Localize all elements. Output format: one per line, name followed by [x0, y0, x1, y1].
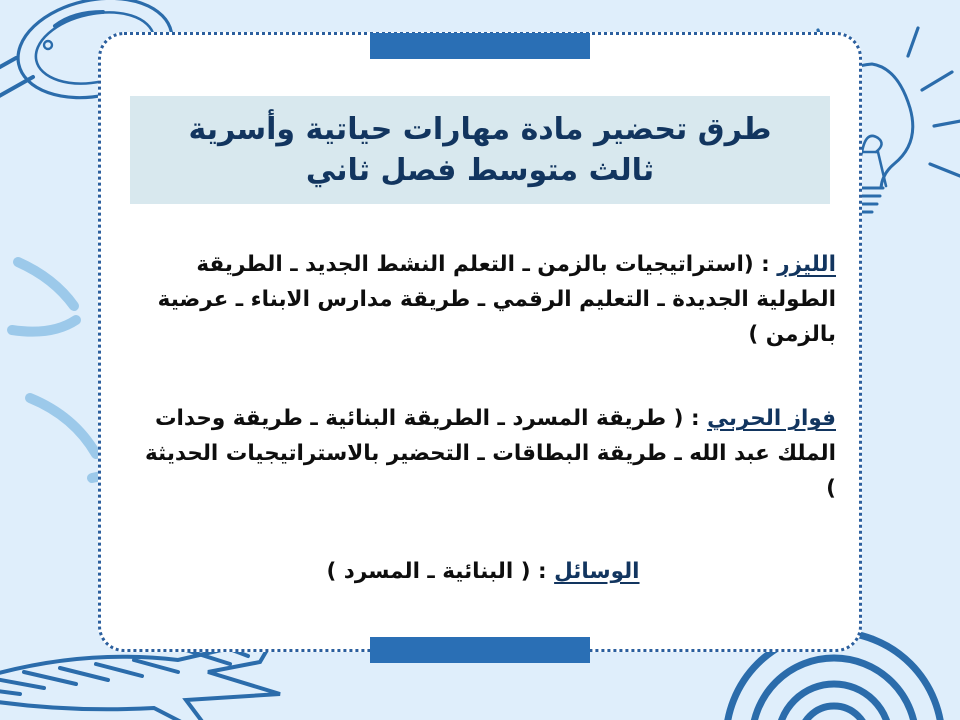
- title-line-2: ثالث متوسط فصل ثاني: [306, 150, 654, 191]
- title-band: طرق تحضير مادة مهارات حياتية وأسرية ثالث…: [130, 96, 830, 204]
- blue-tab-top: [370, 33, 590, 59]
- content-item-2: الوسائل : ( البنائية ـ المسرد ): [130, 555, 836, 590]
- content-item-0: الليزر : (استراتيجيات بالزمن ـ التعلم ال…: [130, 248, 836, 352]
- blue-tab-bottom: [370, 637, 590, 663]
- content-item-0-value: (استراتيجيات بالزمن ـ التعلم النشط الجدي…: [158, 252, 836, 347]
- content-body: الليزر : (استراتيجيات بالزمن ـ التعلم ال…: [130, 248, 836, 608]
- content-item-1-colon: :: [683, 406, 707, 431]
- content-item-1-label: فواز الحربي: [707, 406, 836, 431]
- content-item-0-colon: :: [754, 252, 778, 277]
- title-line-1: طرق تحضير مادة مهارات حياتية وأسرية: [189, 109, 772, 150]
- content-item-2-colon: :: [531, 559, 555, 584]
- slide-canvas: طرق تحضير مادة مهارات حياتية وأسرية ثالث…: [0, 0, 960, 720]
- content-item-1: فواز الحربي : ( طريقة المسرد ـ الطريقة ا…: [130, 402, 836, 506]
- content-item-2-value: ( البنائية ـ المسرد ): [326, 559, 530, 584]
- content-item-2-label: الوسائل: [554, 559, 639, 584]
- content-item-0-label: الليزر: [777, 252, 836, 277]
